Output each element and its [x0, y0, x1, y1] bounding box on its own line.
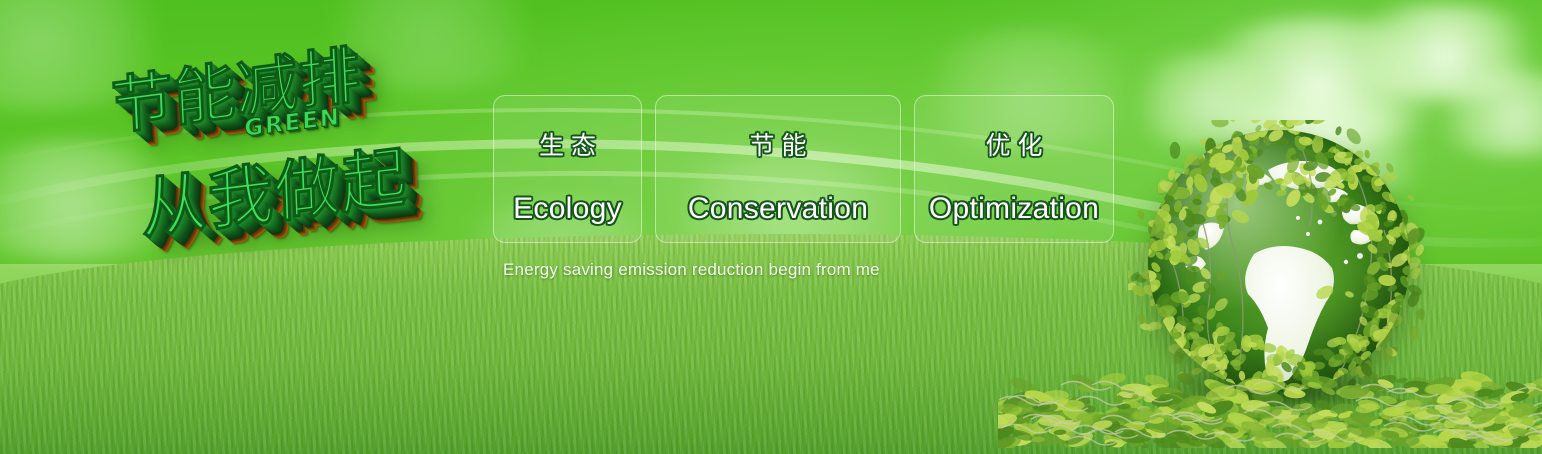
globe-sphere — [1148, 130, 1410, 392]
pine-trees — [0, 258, 370, 408]
card-title-en: Conservation — [688, 192, 868, 226]
card-title-en: Ecology — [513, 192, 622, 226]
card-title-cn: 生态 — [539, 126, 603, 162]
feature-card-conservation[interactable]: 节能 Conservation — [655, 95, 901, 243]
cloud-icon — [1330, 4, 1542, 100]
card-title-en: Optimization — [929, 192, 1099, 226]
eco-banner: 节能减排 GREEN 从我做起 生态 Ecology 节能 Conservati… — [0, 0, 1542, 454]
feature-card-ecology[interactable]: 生态 Ecology — [493, 95, 642, 243]
feature-card-optimization[interactable]: 优化 Optimization — [914, 95, 1114, 243]
green-earth-globe — [1128, 120, 1428, 440]
headline-line-bottom: 从我做起 — [139, 124, 408, 253]
card-title-cn: 优化 — [985, 126, 1049, 162]
globe-leaf-cluster-icon — [1148, 130, 1410, 392]
cloud-icon — [1420, 70, 1542, 156]
headline-3d: 节能减排 GREEN 从我做起 — [96, 36, 496, 266]
leaf-litter — [998, 358, 1542, 448]
feature-cards: 生态 Ecology 节能 Conservation 优化 Optimizati… — [493, 95, 1114, 243]
tagline: Energy saving emission reduction begin f… — [503, 260, 880, 280]
card-title-cn: 节能 — [749, 126, 813, 162]
